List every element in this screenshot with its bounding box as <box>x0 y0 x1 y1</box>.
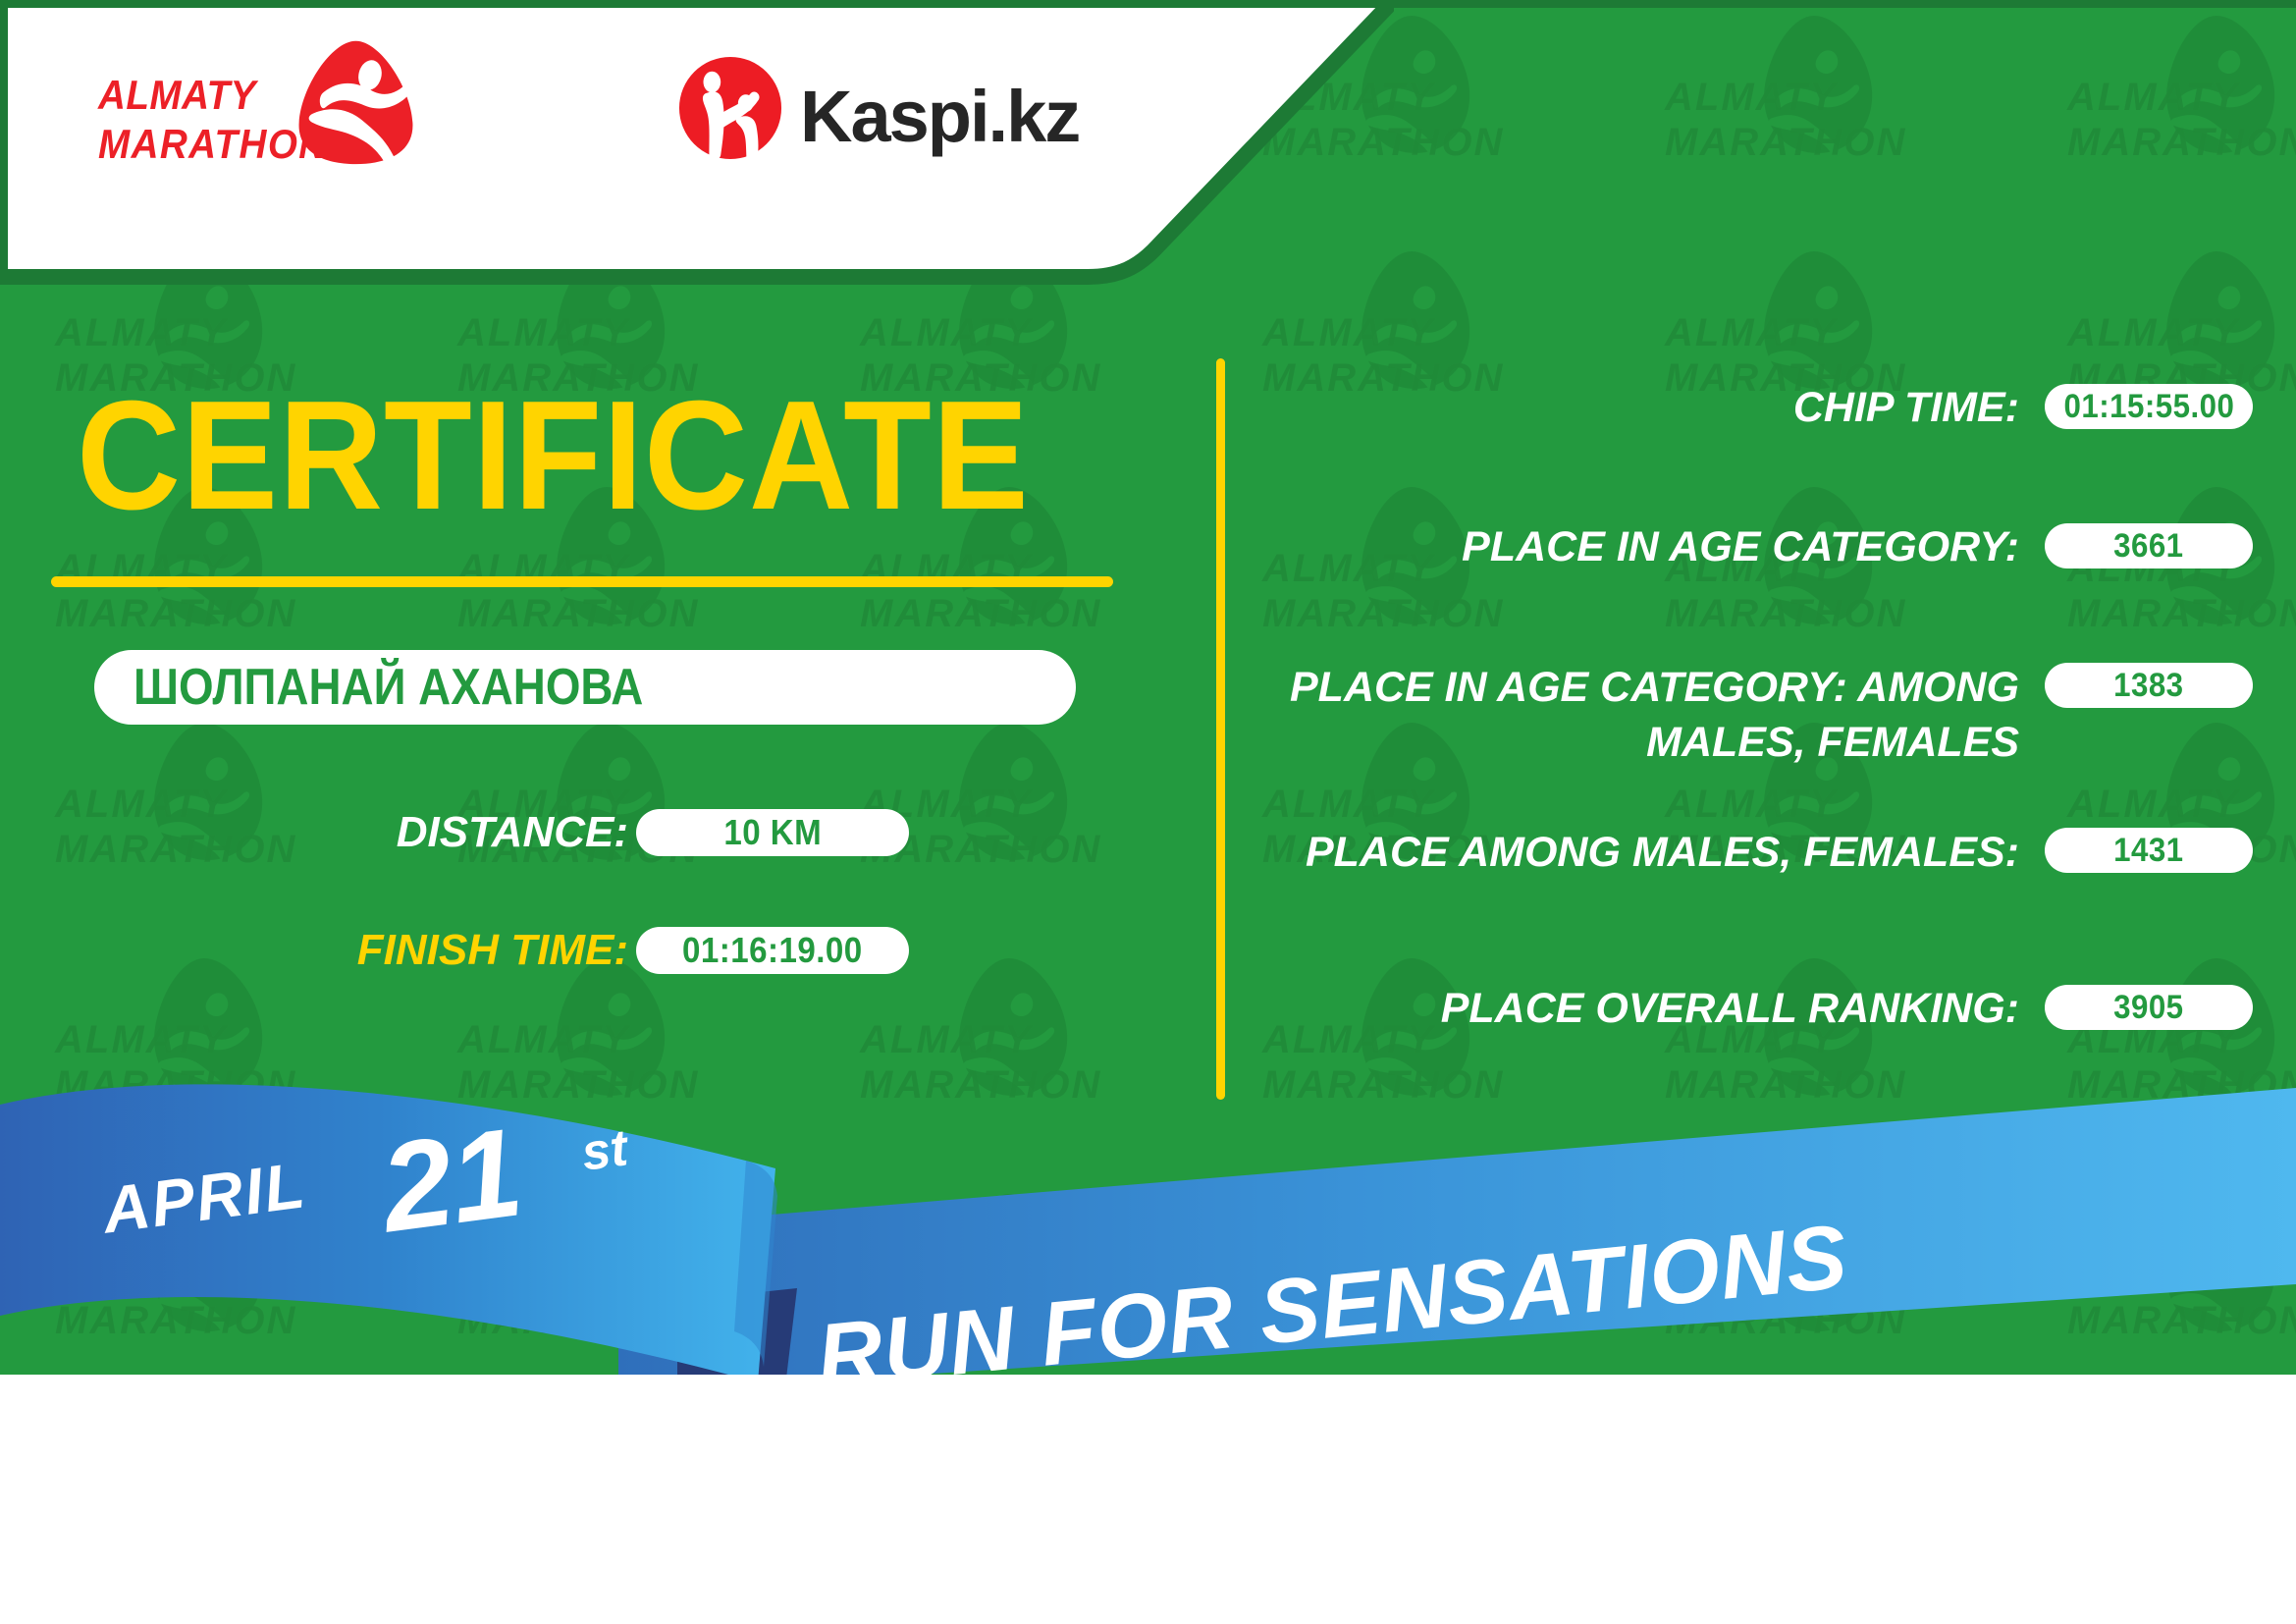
title-underline <box>51 576 1113 587</box>
column-divider <box>1216 358 1225 1100</box>
finish-time-row: FINISH TIME: <box>0 923 628 978</box>
place-age-category-label: PLACE IN AGE CATEGORY: <box>1462 520 2019 573</box>
chip-time-label: CHIP TIME: <box>1793 381 2019 434</box>
chip-time-value-pill: 01:15:55.00 <box>2045 384 2253 429</box>
place-among-gender-value-pill: 1431 <box>2045 828 2253 873</box>
place-age-category-gender-label: PLACE IN AGE CATEGORY: AMONG MALES, FEMA… <box>1273 660 2019 770</box>
place-overall-ranking-value-pill: 3905 <box>2045 985 2253 1030</box>
place-among-gender-value: 1431 <box>2113 832 2183 870</box>
distance-value: 10 KM <box>723 812 822 853</box>
distance-value-pill: 10 KM <box>636 809 909 856</box>
athlete-name-field: ШОЛПАНАЙ АХАНОВА <box>94 650 1076 725</box>
place-overall-ranking-value: 3905 <box>2113 989 2183 1027</box>
ribbon-ordinal: st <box>578 1118 631 1183</box>
distance-label: DISTANCE: <box>397 805 628 860</box>
finish-time-value-pill: 01:16:19.00 <box>636 927 909 974</box>
certificate-page: ALMATY MARATHON ALMATY MARATHON <box>0 0 2296 1624</box>
place-age-category-value: 3661 <box>2113 527 2183 566</box>
place-among-gender-label: PLACE AMONG MALES, FEMALES: <box>1273 825 2019 880</box>
ribbon-day: 21 <box>373 1100 528 1261</box>
athlete-name-value: ШОЛПАНАЙ АХАНОВА <box>133 650 643 725</box>
place-age-category-gender-value: 1383 <box>2113 667 2183 705</box>
page-title: CERTIFICATE <box>77 378 1030 533</box>
place-age-category-value-pill: 3661 <box>2045 523 2253 568</box>
chip-time-value: 01:15:55.00 <box>2063 388 2234 426</box>
distance-row: DISTANCE: <box>0 805 628 860</box>
place-overall-ranking-label: PLACE OVERALL RANKING: <box>1441 982 2019 1035</box>
finish-time-label: FINISH TIME: <box>357 923 628 978</box>
sponsor-bar: Sulpak SANOFI Empowering Life ORIFLAME S… <box>0 1375 2296 1624</box>
finish-time-value: 01:16:19.00 <box>682 930 863 971</box>
place-age-category-gender-value-pill: 1383 <box>2045 663 2253 708</box>
left-column: CERTIFICATE ШОЛПАНАЙ АХАНОВА DISTANCE: 1… <box>0 0 1217 1110</box>
right-column: CHIP TIME: 01:15:55.00 PLACE IN AGE CATE… <box>1266 0 2296 1110</box>
